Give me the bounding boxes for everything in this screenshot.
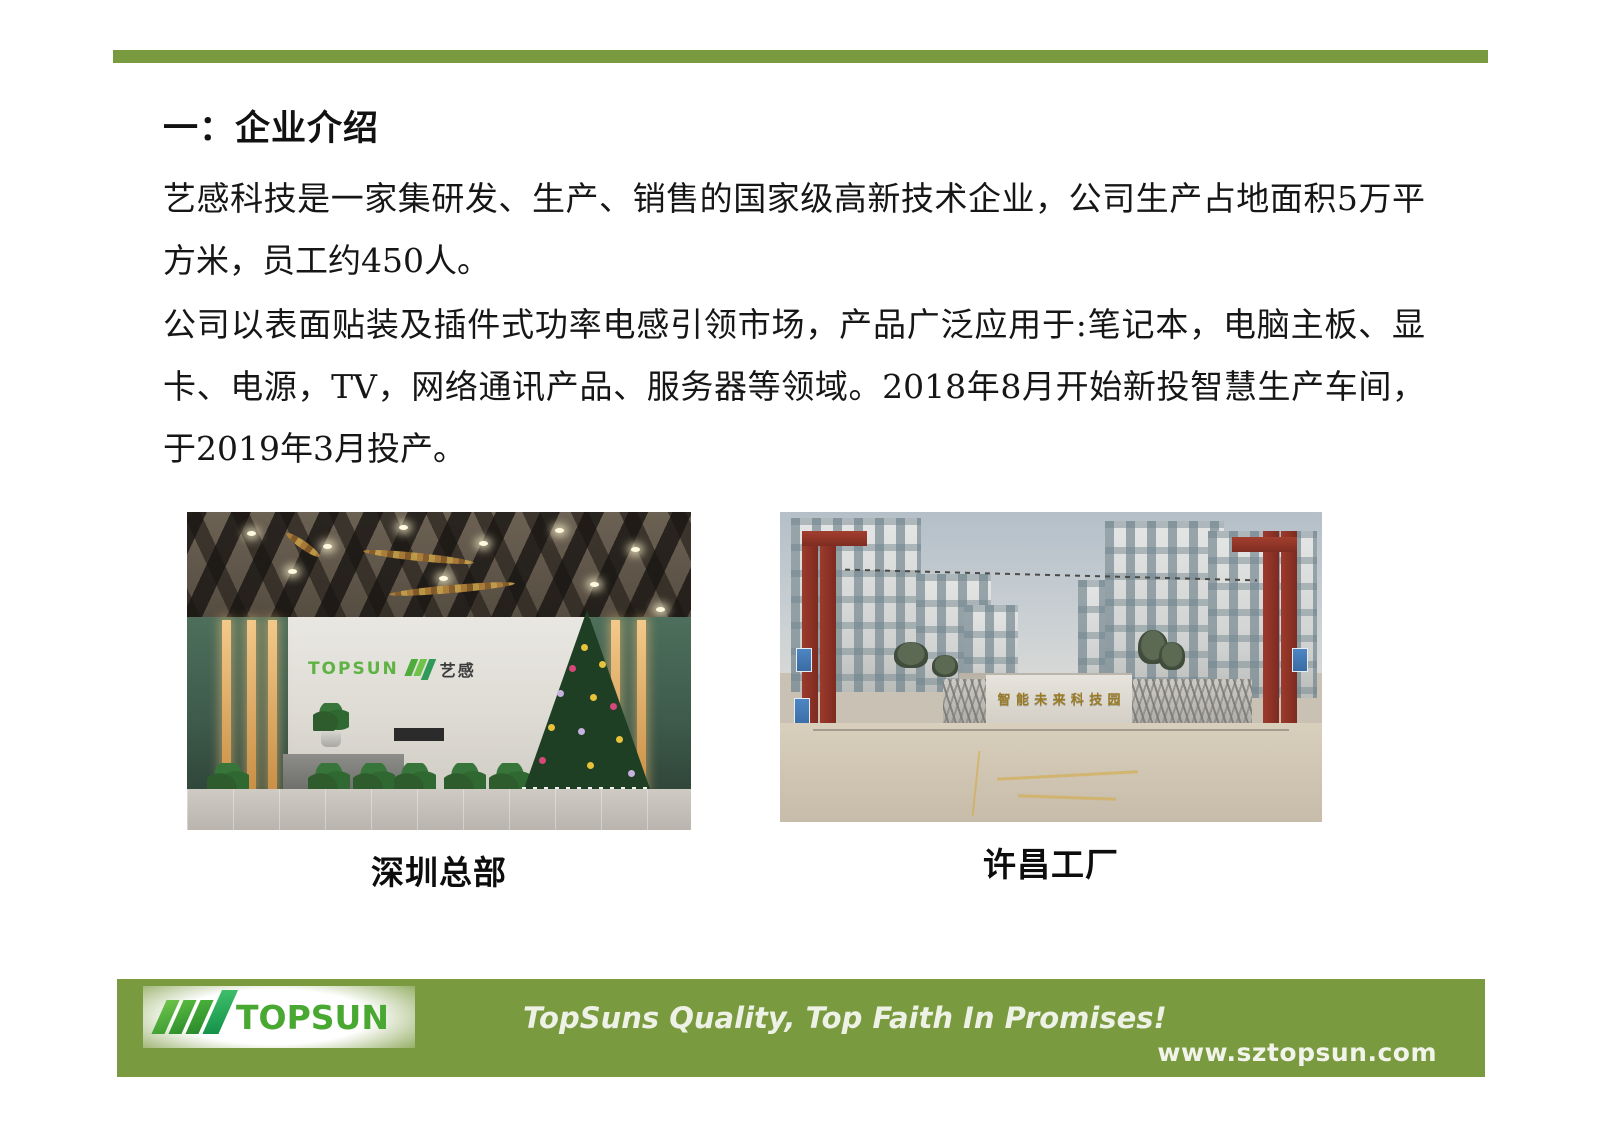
photo-caption-factory: 许昌工厂 <box>780 838 1322 886</box>
ceiling <box>187 512 691 626</box>
intro-paragraph-2: 公司以表面贴装及插件式功率电感引领市场，产品广泛应用于:笔记本，电脑主板、显卡、… <box>163 294 1425 480</box>
floor <box>187 789 691 830</box>
photo-row: TOPSUN 艺感 <box>163 512 1453 912</box>
footer-logo: TOPSUN <box>143 986 415 1048</box>
intro-paragraph-1: 艺感科技是一家集研发、生产、销售的国家级高新技术企业，公司生产占地面积5万平方米… <box>163 168 1425 292</box>
topsun-bars-icon <box>151 1000 233 1034</box>
gate-sign-text: 智能未来科技园 <box>998 689 1121 708</box>
footer-slogan: TopSuns Quality, Top Faith In Promises! <box>523 1001 1223 1035</box>
top-accent-rule <box>113 50 1488 63</box>
photo-caption-headquarters: 深圳总部 <box>187 846 691 894</box>
factory-scene: 智能未来科技园 <box>780 512 1322 822</box>
photo-factory-gate: 智能未来科技园 <box>780 512 1322 822</box>
photo-headquarters-lobby: TOPSUN 艺感 <box>187 512 691 830</box>
wall-logo: TOPSUN 艺感 <box>308 655 510 684</box>
footer-logo-text: TOPSUN <box>236 998 389 1037</box>
photo-block-headquarters: TOPSUN 艺感 <box>187 512 691 894</box>
footer-website-url[interactable]: www.sztopsun.com <box>1157 1038 1437 1067</box>
page-title: 一：企业介绍 <box>163 108 1453 150</box>
lobby-scene: TOPSUN 艺感 <box>187 512 691 830</box>
footer-bar: TOPSUN TopSuns Quality, Top Faith In Pro… <box>117 979 1485 1077</box>
photo-block-factory: 智能未来科技园 许昌工厂 <box>780 512 1322 886</box>
slide-content: 一：企业介绍 艺感科技是一家集研发、生产、销售的国家级高新技术企业，公司生产占地… <box>163 108 1453 480</box>
wall-plaque <box>394 728 444 741</box>
wall-logo-chinese: 艺感 <box>440 657 476 681</box>
wall-logo-bars-icon <box>403 659 436 680</box>
wall-logo-latin: TOPSUN <box>308 659 399 679</box>
ground <box>780 723 1322 822</box>
